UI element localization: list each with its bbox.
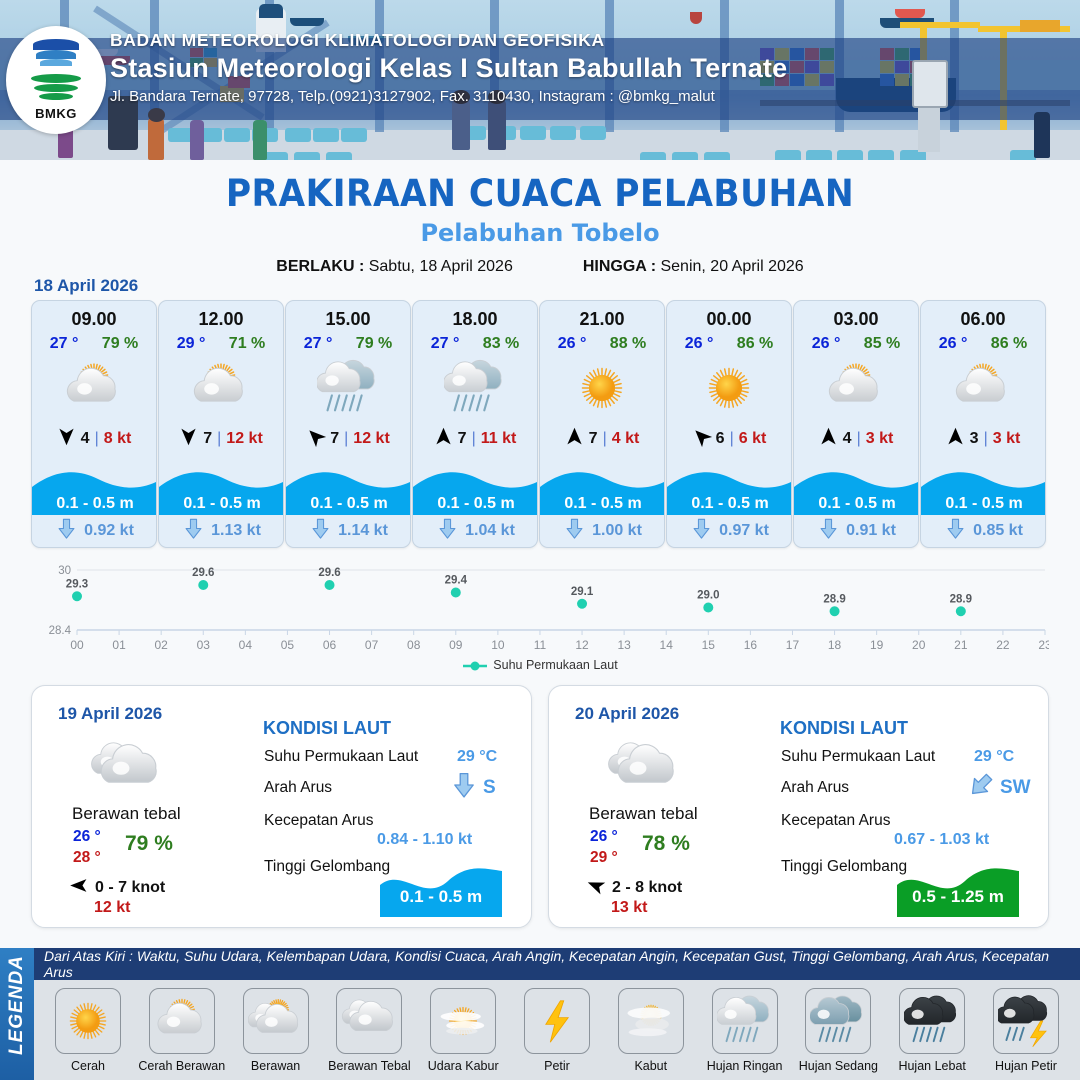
wind-separator: | [344, 430, 348, 448]
svg-text:18: 18 [828, 638, 842, 652]
card-values: 26 °85 % [794, 335, 918, 353]
legend-item-label: Hujan Petir [995, 1059, 1057, 1073]
legend-item-label: Hujan Lebat [898, 1059, 965, 1073]
legend-item: Cerah [42, 988, 134, 1073]
legend-item: Cerah Berawan [136, 988, 228, 1073]
legend-item-label: Cerah Berawan [138, 1059, 225, 1073]
sun-cloud-icon [921, 357, 1045, 419]
card-values: 26 °88 % [540, 335, 664, 353]
card-gust: 6 kt [739, 430, 767, 448]
card-temperature: 26 ° [812, 335, 841, 353]
sst-value: 29 °C [974, 748, 1014, 766]
svg-text:14: 14 [660, 638, 674, 652]
card-time: 18.00 [413, 309, 537, 330]
daily-humidity: 79 % [125, 832, 173, 856]
hourly-card: 12.0029 °71 %7|12 kt0.1 - 0.5 m1.13 kt [158, 300, 284, 548]
card-current-speed: 1.00 kt [592, 522, 642, 540]
seat-icon [341, 128, 367, 142]
hourly-card: 18.0027 °83 %7|11 kt0.1 - 0.5 m1.04 kt [412, 300, 538, 548]
legend-items-row: CerahCerah BerawanBerawanBerawan TebalUd… [34, 980, 1080, 1080]
cloud-sun-icon [243, 988, 309, 1054]
seat-icon [704, 152, 730, 160]
svg-text:11: 11 [534, 638, 547, 652]
daily-condition: Berawan tebal [589, 804, 698, 824]
card-gust: 12 kt [226, 430, 262, 448]
card-temperature: 29 ° [177, 335, 206, 353]
bmkg-logo: BMKG [6, 26, 106, 134]
card-time: 03.00 [794, 309, 918, 330]
card-values: 26 °86 % [921, 335, 1045, 353]
svg-text:30: 30 [58, 565, 71, 577]
ship-icon [895, 9, 925, 18]
current-direction-icon [564, 518, 585, 544]
hourly-card: 00.0026 °86 %6|6 kt0.1 - 0.5 m0.97 kt [666, 300, 792, 548]
wave-height-value: 0.5 - 1.25 m [897, 887, 1019, 907]
title-section: PRAKIRAAN CUACA PELABUHAN Pelabuhan Tobe… [0, 160, 1080, 276]
card-gust: 3 kt [866, 430, 894, 448]
legend-item-label: Petir [544, 1059, 570, 1073]
sea-conditions-title: KONDISI LAUT [780, 718, 908, 739]
hourly-date-label: 18 April 2026 [34, 276, 138, 296]
card-wave-height: 0.1 - 0.5 m [540, 493, 665, 515]
card-temperature: 26 ° [558, 335, 587, 353]
legend-item: Hujan Petir [980, 988, 1072, 1073]
valid-from: BERLAKU : Sabtu, 18 April 2026 [276, 258, 513, 276]
card-gust: 4 kt [612, 430, 640, 448]
card-values: 26 °86 % [667, 335, 791, 353]
current-speed-value: 0.67 - 1.03 kt [894, 831, 989, 849]
current-direction-value: S [483, 777, 496, 799]
card-time: 00.00 [667, 309, 791, 330]
wind-direction-icon [57, 427, 76, 451]
card-current: 1.13 kt [159, 517, 284, 545]
wind-direction-icon [434, 427, 453, 451]
person-figure [452, 100, 470, 150]
current-direction-label: Arah Arus [264, 779, 332, 797]
current-direction-group: S [451, 772, 496, 803]
card-wave-zone: 0.1 - 0.5 m1.04 kt [413, 465, 538, 547]
daily-wind-range: 0 - 7 knot [95, 879, 165, 897]
card-values: 29 °71 % [159, 335, 283, 353]
svg-text:21: 21 [954, 638, 968, 652]
wind-separator: | [857, 430, 861, 448]
card-wave-zone: 0.1 - 0.5 m1.13 kt [159, 465, 284, 547]
svg-text:09: 09 [449, 638, 463, 652]
card-current: 0.85 kt [921, 517, 1046, 545]
current-direction-icon [691, 518, 712, 544]
rain-heavy-icon [899, 988, 965, 1054]
card-current: 1.14 kt [286, 517, 411, 545]
seat-icon [313, 128, 339, 142]
kiosk-screen [912, 60, 948, 108]
sun-cloud-icon [159, 357, 283, 419]
ship-icon [290, 18, 324, 26]
hourly-card: 15.0027 °79 %7|12 kt0.1 - 0.5 m1.14 kt [285, 300, 411, 548]
current-direction-icon [310, 518, 331, 544]
sst-value: 29 °C [457, 748, 497, 766]
ship-icon [690, 12, 702, 24]
current-direction-icon [437, 518, 458, 544]
sun-cloud-icon [794, 357, 918, 419]
card-wind-speed: 4 [843, 430, 852, 448]
card-current: 1.00 kt [540, 517, 665, 545]
legend-item: Hujan Lebat [886, 988, 978, 1073]
seat-icon [550, 126, 576, 140]
daily-temp-min: 26 ° [590, 828, 618, 846]
rain-light-icon [413, 357, 537, 419]
legend-item: Kabut [605, 988, 697, 1073]
card-wind-speed: 7 [589, 430, 598, 448]
current-direction-icon [183, 518, 204, 544]
legend-item-label: Kabut [634, 1059, 667, 1073]
daily-gust: 13 kt [611, 899, 647, 917]
card-current: 1.04 kt [413, 517, 538, 545]
card-humidity: 88 % [610, 335, 646, 353]
svg-text:29.6: 29.6 [318, 567, 340, 579]
card-current-speed: 0.91 kt [846, 522, 896, 540]
hourly-card: 03.0026 °85 %4|3 kt0.1 - 0.5 m0.91 kt [793, 300, 919, 548]
rain-moderate-icon [805, 988, 871, 1054]
svg-text:16: 16 [744, 638, 758, 652]
valid-to: HINGGA : Senin, 20 April 2026 [583, 258, 804, 276]
daily-temp-min: 26 ° [73, 828, 101, 846]
card-wind-speed: 6 [716, 430, 725, 448]
wind-direction-icon [692, 427, 711, 451]
legend-note: Dari Atas Kiri : Waktu, Suhu Udara, Kele… [34, 948, 1080, 980]
svg-text:22: 22 [996, 638, 1010, 652]
svg-text:28.9: 28.9 [950, 593, 972, 605]
card-gust: 3 kt [993, 430, 1021, 448]
card-values: 27 °79 % [32, 335, 156, 353]
card-wind-speed: 3 [970, 430, 979, 448]
card-time: 09.00 [32, 309, 156, 330]
svg-text:29.6: 29.6 [192, 567, 214, 579]
seat-icon [224, 128, 250, 142]
card-time: 12.00 [159, 309, 283, 330]
haze-icon [430, 988, 496, 1054]
svg-text:03: 03 [197, 638, 211, 652]
card-humidity: 83 % [483, 335, 519, 353]
seat-icon [806, 150, 832, 160]
station-address: Jl. Bandara Ternate, 97728, Telp.(0921)3… [110, 88, 787, 105]
valid-to-value: Senin, 20 April 2026 [660, 258, 803, 275]
thunderstorm-icon [993, 988, 1059, 1054]
person-figure [1034, 112, 1050, 158]
sun-cloud-icon [149, 988, 215, 1054]
current-speed-label: Kecepatan Arus [264, 812, 373, 830]
current-speed-value: 0.84 - 1.10 kt [377, 831, 472, 849]
legend-item: Udara Kabur [417, 988, 509, 1073]
svg-text:06: 06 [323, 638, 337, 652]
hourly-card: 21.0026 °88 %7|4 kt0.1 - 0.5 m1.00 kt [539, 300, 665, 548]
current-direction-label: Arah Arus [781, 779, 849, 797]
wind-direction-icon [565, 427, 584, 451]
person-figure [148, 118, 164, 160]
card-wave-height: 0.1 - 0.5 m [921, 493, 1046, 515]
svg-text:20: 20 [912, 638, 926, 652]
valid-from-label: BERLAKU : [276, 258, 364, 275]
card-wave-height: 0.1 - 0.5 m [286, 493, 411, 515]
card-wind: 7|12 kt [159, 427, 283, 451]
svg-text:00: 00 [70, 638, 84, 652]
card-wind: 3|3 kt [921, 427, 1045, 451]
svg-text:13: 13 [617, 638, 631, 652]
card-temperature: 27 ° [50, 335, 79, 353]
legend-item-label: Cerah [71, 1059, 105, 1073]
cloud-icon [336, 988, 402, 1054]
rain-light-icon [286, 357, 410, 419]
legend-item-label: Berawan Tebal [328, 1059, 410, 1073]
wind-direction-icon [69, 876, 88, 900]
card-wave-zone: 0.1 - 0.5 m1.00 kt [540, 465, 665, 547]
legend-item: Petir [511, 988, 603, 1073]
card-current-speed: 1.14 kt [338, 522, 388, 540]
svg-text:17: 17 [786, 638, 800, 652]
page-subtitle: Pelabuhan Tobelo [0, 219, 1080, 247]
daily-wind-range: 2 - 8 knot [612, 879, 682, 897]
person-figure [190, 120, 204, 160]
seat-icon [285, 128, 311, 142]
card-current: 0.97 kt [667, 517, 792, 545]
wave-height-badge: 0.5 - 1.25 m [897, 863, 1019, 917]
legend-side-title: LEGENDA [6, 959, 28, 1055]
chart-legend-label: Suhu Permukaan Laut [493, 658, 617, 672]
svg-text:29.1: 29.1 [571, 586, 594, 598]
wind-direction-icon [586, 876, 605, 900]
seat-icon [326, 152, 352, 160]
card-time: 06.00 [921, 309, 1045, 330]
crane-icon [900, 22, 980, 28]
wave-height-label: Tinggi Gelombang [781, 858, 907, 876]
sun-icon [667, 357, 791, 419]
svg-text:29.4: 29.4 [445, 575, 468, 587]
logo-text: BMKG [35, 106, 77, 121]
valid-to-label: HINGGA : [583, 258, 656, 275]
seat-icon [775, 150, 801, 160]
daily-wind: 2 - 8 knot [586, 876, 682, 900]
card-humidity: 85 % [864, 335, 900, 353]
card-wind-speed: 4 [81, 430, 90, 448]
lightning-icon [524, 988, 590, 1054]
crane-icon [1020, 20, 1060, 32]
card-temperature: 27 ° [431, 335, 460, 353]
seat-icon [520, 126, 546, 140]
sst-label: Suhu Permukaan Laut [264, 748, 418, 766]
card-current-speed: 1.04 kt [465, 522, 515, 540]
card-wind: 7|4 kt [540, 427, 664, 451]
card-values: 27 °83 % [413, 335, 537, 353]
sst-chart: 3028.40001020304050607080910111213141516… [31, 560, 1049, 670]
card-values: 27 °79 % [286, 335, 410, 353]
wave-height-value: 0.1 - 0.5 m [380, 887, 502, 907]
card-wave-height: 0.1 - 0.5 m [794, 493, 919, 515]
card-current: 0.91 kt [794, 517, 919, 545]
card-wave-zone: 0.1 - 0.5 m0.85 kt [921, 465, 1046, 547]
seat-icon [672, 152, 698, 160]
card-humidity: 79 % [102, 335, 138, 353]
wind-direction-icon [306, 427, 325, 451]
wind-direction-icon [819, 427, 838, 451]
cruise-funnel-icon [259, 4, 283, 18]
wind-separator: | [95, 430, 99, 448]
card-current-speed: 1.13 kt [211, 522, 261, 540]
card-wave-height: 0.1 - 0.5 m [32, 493, 157, 515]
daily-humidity: 78 % [642, 832, 690, 856]
daily-forecast-panel: 19 April 2026Berawan tebal26 °28 °79 %0 … [31, 685, 532, 928]
card-wave-height: 0.1 - 0.5 m [159, 493, 284, 515]
seat-icon [868, 150, 894, 160]
card-wave-height: 0.1 - 0.5 m [413, 493, 538, 515]
wind-separator: | [984, 430, 988, 448]
svg-text:07: 07 [365, 638, 379, 652]
svg-text:08: 08 [407, 638, 421, 652]
current-direction-icon [56, 518, 77, 544]
card-wave-zone: 0.1 - 0.5 m0.91 kt [794, 465, 919, 547]
header-text-group: BADAN METEOROLOGI KLIMATOLOGI DAN GEOFIS… [110, 30, 787, 105]
card-wave-zone: 0.1 - 0.5 m0.97 kt [667, 465, 792, 547]
wind-separator: | [217, 430, 221, 448]
legend-item: Berawan Tebal [323, 988, 415, 1073]
svg-text:05: 05 [281, 638, 295, 652]
validity-row: BERLAKU : Sabtu, 18 April 2026 HINGGA : … [0, 258, 1080, 276]
card-current-speed: 0.97 kt [719, 522, 769, 540]
card-wind-speed: 7 [330, 430, 339, 448]
card-wind-speed: 7 [203, 430, 212, 448]
card-humidity: 71 % [229, 335, 265, 353]
daily-wind: 0 - 7 knot [69, 876, 165, 900]
card-current: 0.92 kt [32, 517, 157, 545]
card-gust: 8 kt [104, 430, 132, 448]
svg-text:01: 01 [112, 638, 126, 652]
daily-date: 19 April 2026 [58, 704, 162, 724]
svg-text:19: 19 [870, 638, 884, 652]
current-direction-icon [818, 518, 839, 544]
legend-item-label: Berawan [251, 1059, 300, 1073]
sea-conditions-title: KONDISI LAUT [263, 718, 391, 739]
svg-text:23: 23 [1038, 638, 1049, 652]
legend-section: LEGENDA Dari Atas Kiri : Waktu, Suhu Uda… [0, 948, 1080, 1080]
seat-icon [837, 150, 863, 160]
card-humidity: 79 % [356, 335, 392, 353]
card-humidity: 86 % [737, 335, 773, 353]
card-humidity: 86 % [991, 335, 1027, 353]
chart-legend: Suhu Permukaan Laut [31, 658, 1049, 672]
card-current-speed: 0.85 kt [973, 522, 1023, 540]
page-title: PRAKIRAAN CUACA PELABUHAN [38, 172, 1042, 215]
seat-icon [294, 152, 320, 160]
wind-direction-icon [946, 427, 965, 451]
daily-forecast-panel: 20 April 2026Berawan tebal26 °29 °78 %2 … [548, 685, 1049, 928]
arrow-down-icon [451, 772, 477, 803]
card-time: 15.00 [286, 309, 410, 330]
hourly-forecast-row: 09.0027 °79 %4|8 kt0.1 - 0.5 m0.92 kt12.… [31, 300, 1049, 548]
card-wind-speed: 7 [458, 430, 467, 448]
cloud-icon [90, 734, 162, 811]
agency-name: BADAN METEOROLOGI KLIMATOLOGI DAN GEOFIS… [110, 30, 787, 51]
wave-height-label: Tinggi Gelombang [264, 858, 390, 876]
card-wave-zone: 0.1 - 0.5 m0.92 kt [32, 465, 157, 547]
wave-height-badge: 0.1 - 0.5 m [380, 863, 502, 917]
card-temperature: 26 ° [939, 335, 968, 353]
legend-marker-icon [462, 660, 488, 672]
legend-item: Berawan [230, 988, 322, 1073]
sst-chart-svg: 3028.40001020304050607080910111213141516… [31, 560, 1049, 656]
sun-cloud-icon [32, 357, 156, 419]
seat-icon [580, 126, 606, 140]
current-speed-label: Kecepatan Arus [781, 812, 890, 830]
svg-text:29.0: 29.0 [697, 590, 719, 602]
daily-condition: Berawan tebal [72, 804, 181, 824]
person-figure [488, 100, 506, 150]
legend-item-label: Hujan Ringan [707, 1059, 783, 1073]
page-header: BMKG BADAN METEOROLOGI KLIMATOLOGI DAN G… [0, 0, 1080, 160]
wind-separator: | [472, 430, 476, 448]
legend-side-bar: LEGENDA [0, 948, 34, 1080]
svg-text:28.4: 28.4 [49, 625, 72, 637]
wind-separator: | [730, 430, 734, 448]
card-wind: 6|6 kt [667, 427, 791, 451]
legend-item-label: Udara Kabur [428, 1059, 499, 1073]
hourly-card: 09.0027 °79 %4|8 kt0.1 - 0.5 m0.92 kt [31, 300, 157, 548]
card-temperature: 27 ° [304, 335, 333, 353]
logo-arcs-icon [28, 39, 84, 73]
current-direction-icon [945, 518, 966, 544]
daily-temp-max: 29 ° [590, 849, 618, 867]
legend-item-label: Hujan Sedang [799, 1059, 878, 1073]
card-wind: 4|3 kt [794, 427, 918, 451]
daily-forecast-row: 19 April 2026Berawan tebal26 °28 °79 %0 … [31, 685, 1049, 928]
card-temperature: 26 ° [685, 335, 714, 353]
card-time: 21.00 [540, 309, 664, 330]
kiosk-stand [918, 108, 940, 152]
sun-icon [55, 988, 121, 1054]
station-name: Stasiun Meteorologi Kelas I Sultan Babul… [110, 53, 787, 84]
svg-text:15: 15 [702, 638, 716, 652]
seat-icon [640, 152, 666, 160]
valid-from-value: Sabtu, 18 April 2026 [369, 258, 513, 275]
wind-direction-icon [179, 427, 198, 451]
card-gust: 12 kt [353, 430, 389, 448]
sst-label: Suhu Permukaan Laut [781, 748, 935, 766]
svg-text:02: 02 [154, 638, 168, 652]
daily-date: 20 April 2026 [575, 704, 679, 724]
card-wind: 7|11 kt [413, 427, 537, 451]
sun-icon [540, 357, 664, 419]
card-gust: 11 kt [481, 430, 517, 448]
seat-icon [1010, 150, 1036, 160]
rain-light-icon [712, 988, 778, 1054]
current-direction-value: SW [1000, 777, 1031, 799]
card-wind: 4|8 kt [32, 427, 156, 451]
daily-temp-max: 28 ° [73, 849, 101, 867]
svg-text:10: 10 [491, 638, 505, 652]
cloud-icon [607, 734, 679, 811]
card-wind: 7|12 kt [286, 427, 410, 451]
svg-text:29.3: 29.3 [66, 578, 88, 590]
daily-gust: 12 kt [94, 899, 130, 917]
wind-separator: | [603, 430, 607, 448]
svg-text:12: 12 [575, 638, 589, 652]
person-figure [253, 120, 267, 160]
logo-green-icon [27, 74, 85, 104]
legend-item: Hujan Ringan [699, 988, 791, 1073]
person-figure [148, 108, 165, 122]
legend-item: Hujan Sedang [792, 988, 884, 1073]
fog-icon [618, 988, 684, 1054]
svg-text:28.9: 28.9 [823, 593, 845, 605]
card-current-speed: 0.92 kt [84, 522, 134, 540]
card-wave-height: 0.1 - 0.5 m [667, 493, 792, 515]
